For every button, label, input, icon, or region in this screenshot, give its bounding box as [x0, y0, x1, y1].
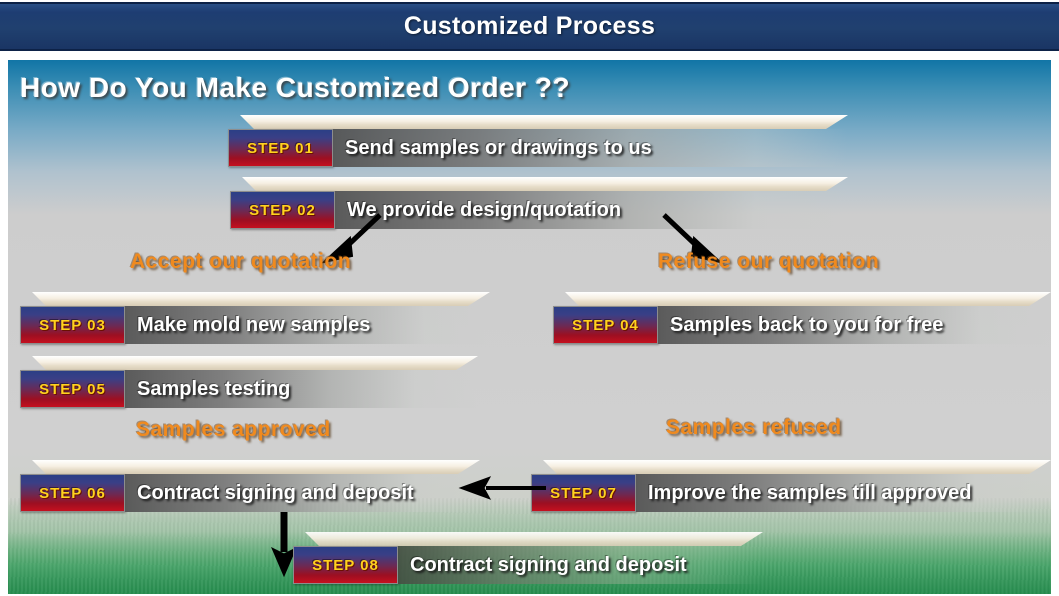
step-badge-06: STEP 06: [20, 474, 125, 512]
slide-body: How Do You Make Customized Order ?? STEP…: [8, 60, 1051, 594]
step-label-07: Improve the samples till approved: [648, 482, 971, 505]
step-badge-08: STEP 08: [293, 546, 398, 584]
branch-label-accept: Accept our quotation: [130, 250, 351, 274]
step-bar: STEP 07 Improve the samples till approve…: [531, 474, 1051, 512]
step-badge-label: STEP 05: [39, 381, 106, 398]
step-label-01: Send samples or drawings to us: [345, 137, 652, 160]
step-banner: [543, 460, 1051, 474]
step-badge-label: STEP 02: [249, 202, 316, 219]
step-banner: [240, 115, 848, 129]
page-title: Customized Process: [404, 12, 655, 41]
step-bar: STEP 08 Contract signing and deposit: [293, 546, 763, 584]
step-badge-07: STEP 07: [531, 474, 636, 512]
step-label-wrap: Samples testing: [125, 370, 478, 408]
step-label-wrap: Contract signing and deposit: [398, 546, 763, 584]
step-badge-label: STEP 07: [550, 485, 617, 502]
step-bar: STEP 03 Make mold new samples: [20, 306, 490, 344]
step-label-wrap: We provide design/quotation: [335, 191, 848, 229]
step-bar: STEP 04 Samples back to you for free: [553, 306, 1051, 344]
step-label-05: Samples testing: [137, 378, 290, 401]
step-badge-05: STEP 05: [20, 370, 125, 408]
step-bar: STEP 06 Contract signing and deposit: [20, 474, 480, 512]
step-label-wrap: Make mold new samples: [125, 306, 490, 344]
step-banner: [32, 356, 478, 370]
step-badge-label: STEP 01: [247, 140, 314, 157]
step-label-04: Samples back to you for free: [670, 314, 943, 337]
step-bar: STEP 05 Samples testing: [20, 370, 478, 408]
step-label-wrap: Samples back to you for free: [658, 306, 1051, 344]
step-badge-label: STEP 03: [39, 317, 106, 334]
step-badge-02: STEP 02: [230, 191, 335, 229]
step-bar: STEP 01 Send samples or drawings to us: [228, 129, 848, 167]
step-badge-01: STEP 01: [228, 129, 333, 167]
step-banner: [32, 292, 490, 306]
step-label-03: Make mold new samples: [137, 314, 370, 337]
step-banner: [565, 292, 1051, 306]
slide-heading: How Do You Make Customized Order ??: [20, 72, 570, 104]
step-label-wrap: Send samples or drawings to us: [333, 129, 848, 167]
branch-label-samples-refused: Samples refused: [666, 416, 842, 440]
step-label-wrap: Improve the samples till approved: [636, 474, 1051, 512]
step-label-06: Contract signing and deposit: [137, 482, 414, 505]
step-banner: [32, 460, 480, 474]
step-badge-label: STEP 06: [39, 485, 106, 502]
step-label-02: We provide design/quotation: [347, 199, 621, 222]
title-bar: Customized Process: [0, 2, 1059, 51]
branch-label-samples-approved: Samples approved: [136, 418, 331, 442]
step-label-08: Contract signing and deposit: [410, 554, 687, 577]
step-label-wrap: Contract signing and deposit: [125, 474, 480, 512]
step-badge-label: STEP 08: [312, 557, 379, 574]
step-banner: [305, 532, 763, 546]
branch-label-refuse: Refuse our quotation: [658, 250, 879, 274]
step-badge-label: STEP 04: [572, 317, 639, 334]
step-badge-03: STEP 03: [20, 306, 125, 344]
slide-screenshot: Customized Process How Do You Make Custo…: [0, 0, 1059, 596]
step-badge-04: STEP 04: [553, 306, 658, 344]
step-banner: [242, 177, 848, 191]
step-bar: STEP 02 We provide design/quotation: [230, 191, 848, 229]
